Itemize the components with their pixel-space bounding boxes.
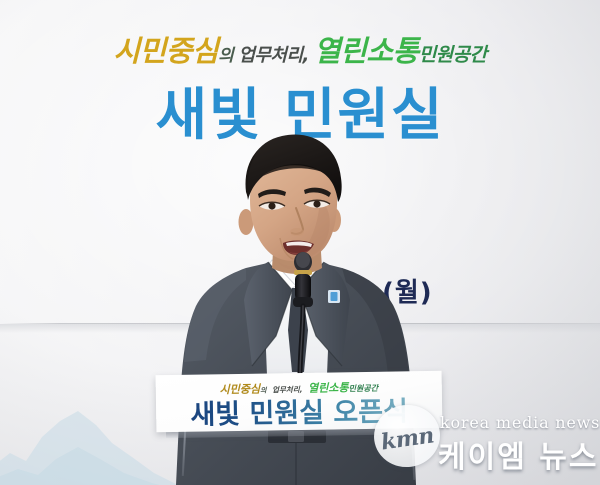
- kmn-logo-text: kmn: [370, 401, 444, 472]
- photo-canvas: 시민중심의 업무처리, 열린소통민원공간 새빛 민원실 (월): [0, 0, 600, 485]
- speaker-lapel-pin: [328, 290, 340, 303]
- watermark-english-name: korea media news: [440, 413, 600, 432]
- watermark-korean-name: 케이엠 뉴스: [438, 432, 598, 476]
- watermark: kmn korea media news 케이엠 뉴스: [374, 399, 600, 481]
- kmn-logo-icon: kmn: [370, 401, 444, 472]
